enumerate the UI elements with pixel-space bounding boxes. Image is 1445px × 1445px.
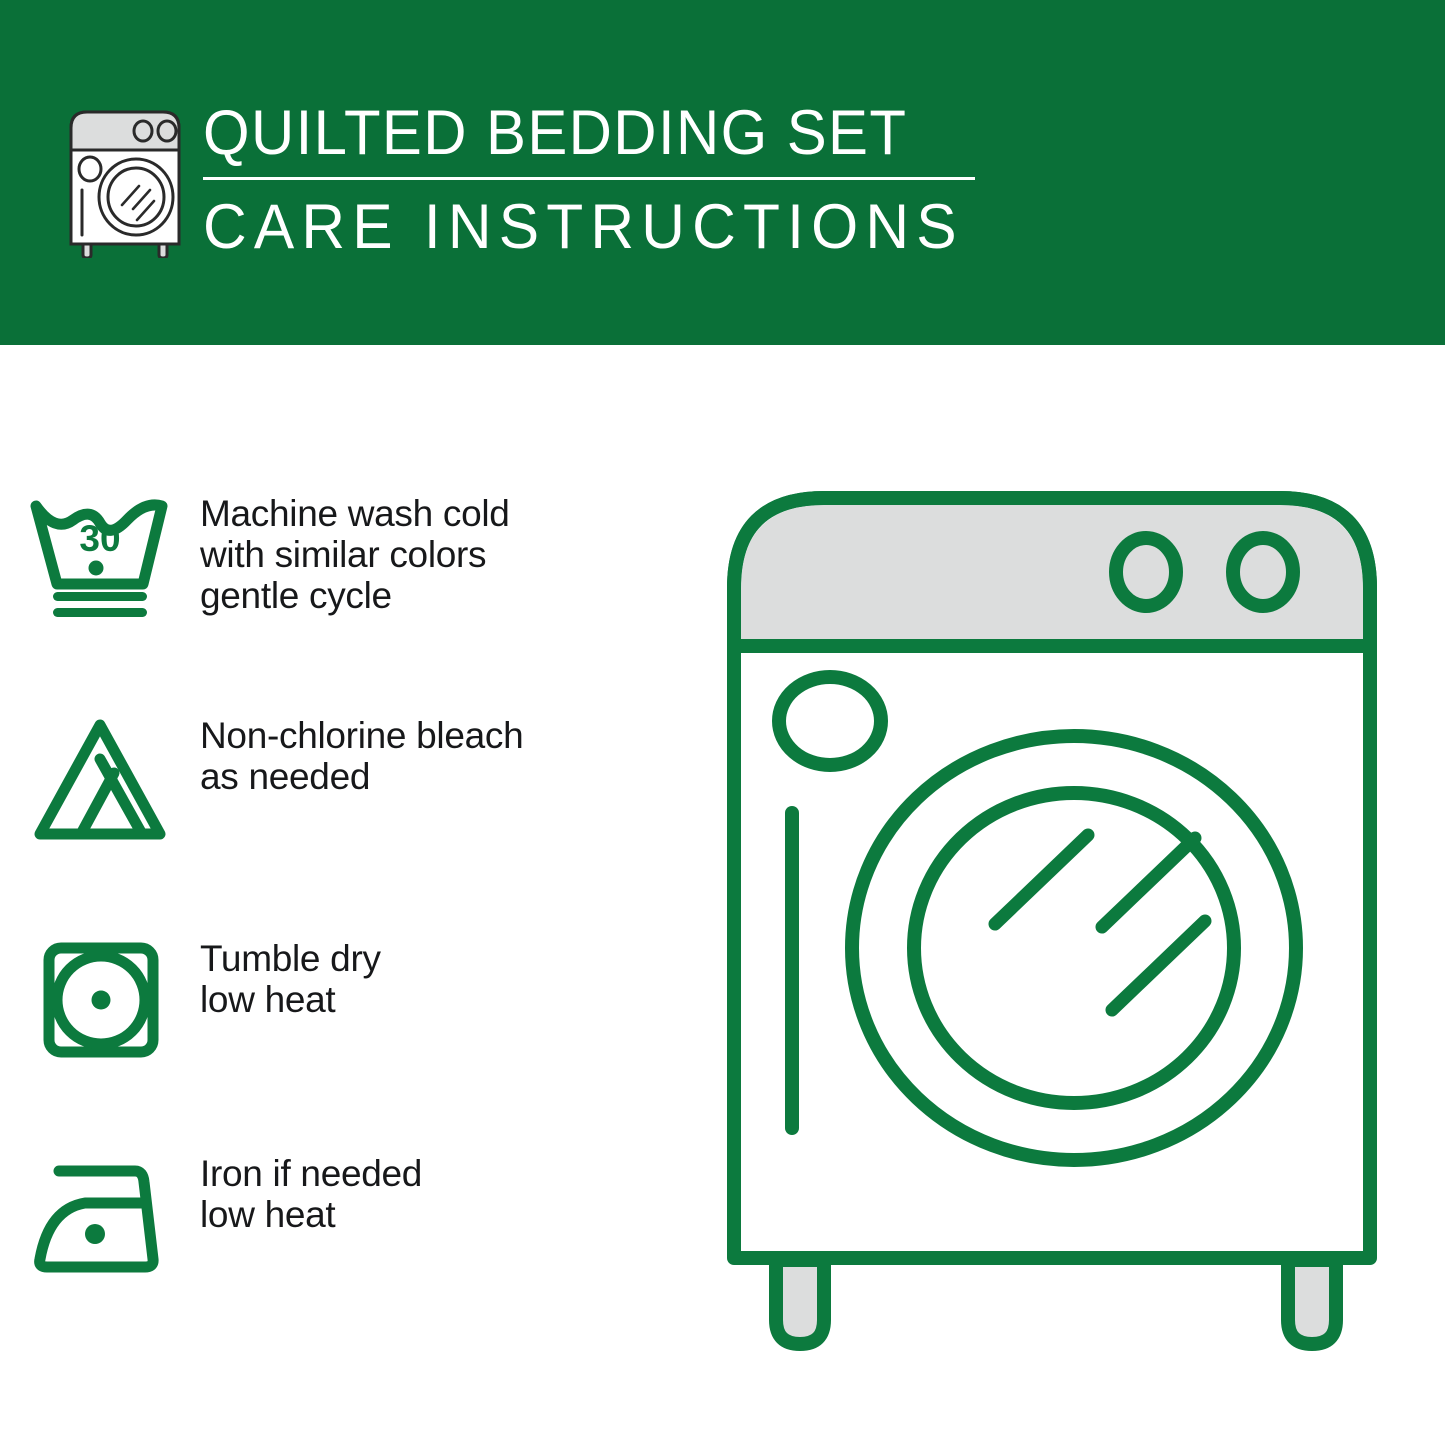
control-knob [1233,538,1293,606]
instruction-line: low heat [200,979,381,1020]
wash-dot [89,561,104,576]
title-divider [203,177,975,180]
instruction-row-bleach: Non-chlorine bleach as needed [0,707,700,851]
instruction-line: low heat [200,1194,422,1235]
instruction-line: Iron if needed [200,1153,422,1194]
page-subtitle: CARE INSTRUCTIONS [203,192,961,262]
control-knob [1116,538,1176,606]
instruction-label-machine-wash: Machine wash cold with similar colors ge… [200,485,510,616]
instruction-line: Machine wash cold [200,493,510,534]
tumble-dry-low-icon [0,930,200,1074]
front-load-washing-machine-illustration [712,468,1392,1368]
iron-heat-dot [85,1224,105,1244]
header-text-block: QUILTED BEDDING SET CARE INSTRUCTIONS [203,96,993,262]
detergent-dispenser [779,677,881,765]
instruction-line: Non-chlorine bleach [200,715,523,756]
instruction-label-tumble-dry: Tumble dry low heat [200,930,381,1020]
machine-leg [1288,1260,1336,1344]
non-chlorine-bleach-triangle-icon [0,707,200,851]
dry-heat-dot [92,991,111,1010]
instruction-label-bleach: Non-chlorine bleach as needed [200,707,523,797]
iron-low-heat-icon [0,1145,200,1289]
instruction-label-iron: Iron if needed low heat [200,1145,422,1235]
care-instructions-infographic: QUILTED BEDDING SET CARE INSTRUCTIONS 30 [0,0,1445,1445]
instruction-line: as needed [200,756,523,797]
machine-leg [776,1260,824,1344]
instructions-list: 30 Machine wash cold with similar colors… [0,345,700,1445]
instruction-line: with similar colors [200,534,510,575]
instruction-row-tumble-dry: Tumble dry low heat [0,930,700,1074]
wash-temp-value: 30 [79,518,120,559]
header-banner: QUILTED BEDDING SET CARE INSTRUCTIONS [0,0,1445,345]
wash-tub-30-gentle-icon: 30 [0,485,200,629]
instruction-line: gentle cycle [200,575,510,616]
instruction-row-machine-wash: 30 Machine wash cold with similar colors… [0,485,700,629]
washing-machine-icon [57,98,193,258]
instruction-row-iron: Iron if needed low heat [0,1145,700,1289]
page-title: QUILTED BEDDING SET [203,96,954,170]
instruction-line: Tumble dry [200,938,381,979]
